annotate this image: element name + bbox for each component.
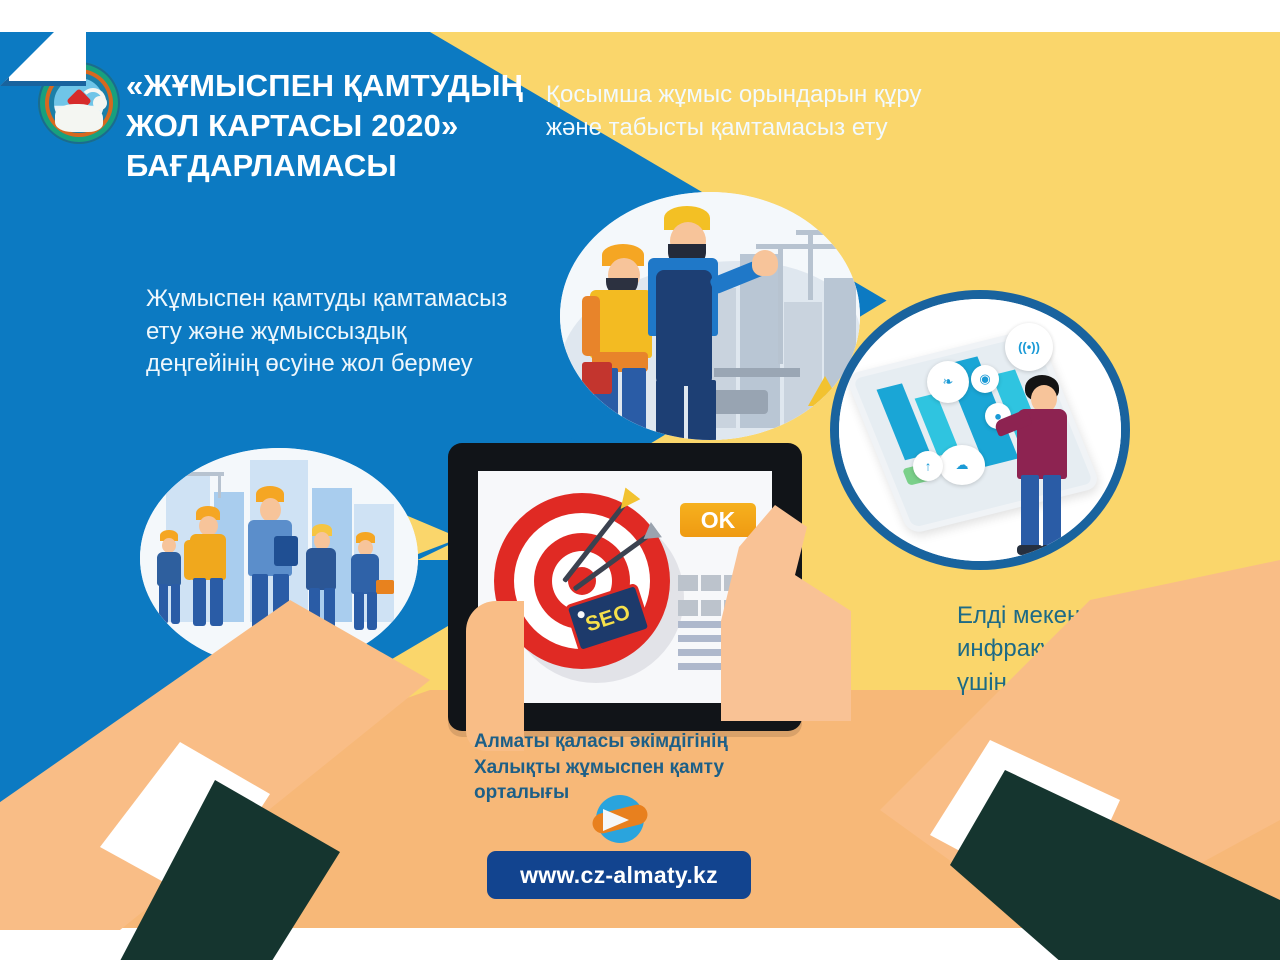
illustration-smart-city: ((•)) ❧ ◉ ☁ ↑ ● (830, 290, 1130, 570)
crane-beam (714, 368, 800, 377)
seo-tag-text: SEO (571, 597, 645, 641)
worker-torso (157, 552, 181, 586)
thumbs-up-icon (752, 250, 778, 276)
person-leg (1043, 475, 1061, 549)
illustration-builders (560, 192, 860, 440)
placeholder-block (678, 575, 698, 591)
crane-arm (796, 230, 854, 235)
crane-mast (808, 230, 813, 300)
cloud-icon: ☁ (939, 445, 985, 485)
person-shoe (1017, 545, 1043, 555)
website-url-button[interactable]: www.cz-almaty.kz (487, 851, 751, 899)
worker-head (260, 498, 281, 522)
toolbox-icon (376, 580, 394, 594)
worker-leg (193, 578, 206, 626)
crane-mast (778, 244, 783, 364)
person-shoe (1041, 545, 1067, 555)
person-leg (1021, 475, 1039, 549)
worker-torso (351, 554, 379, 594)
employment-center-globe-logo-icon (592, 793, 648, 845)
worker-leg (354, 592, 364, 630)
builder-leg (622, 368, 646, 438)
worker-leg (171, 584, 180, 624)
placeholder-block (701, 600, 721, 616)
worker-leg (210, 578, 223, 626)
builder-overalls (656, 270, 712, 386)
tablet-device[interactable]: SEO OK (448, 443, 802, 731)
tablet-screen[interactable]: SEO OK (478, 471, 772, 703)
worker-arm (184, 540, 195, 580)
builder-leg (656, 380, 684, 440)
wifi-icon: ((•)) (1005, 323, 1053, 371)
building (784, 302, 822, 428)
placeholder-block (678, 600, 698, 616)
toolbox-icon (582, 362, 612, 394)
worker-leg (367, 592, 377, 630)
worker-head (162, 538, 176, 553)
clipboard-icon (274, 536, 298, 566)
placeholder-block (701, 575, 721, 591)
emblem-leopard-tail (80, 88, 106, 114)
worker-leg (159, 584, 168, 624)
crane-arm (756, 244, 846, 249)
worker-head (199, 516, 218, 536)
upload-arrow-icon: ↑ (913, 451, 943, 481)
leaf-icon: ❧ (927, 361, 969, 403)
builder-arm (582, 296, 600, 356)
location-pin-icon: ◉ (971, 365, 999, 393)
message-left-text: Жұмыспен қамтуды қамтамасыз ету және жұм… (146, 283, 516, 381)
builder-leg (688, 380, 716, 440)
worker-torso (306, 548, 336, 590)
infographic-poster: «ЖҰМЫСПЕН ҚАМТУДЫҢ ЖОЛ КАРТАСЫ 2020» БАҒ… (0, 0, 1280, 960)
message-top-text: Қосымша жұмыс орындарын құру және табыст… (546, 78, 946, 144)
crane-cable (218, 472, 221, 498)
ok-button[interactable]: OK (680, 503, 756, 537)
worker-torso (190, 534, 226, 580)
page-title: «ЖҰМЫСПЕН ҚАМТУДЫҢ ЖОЛ КАРТАСЫ 2020» БАҒ… (126, 66, 526, 186)
